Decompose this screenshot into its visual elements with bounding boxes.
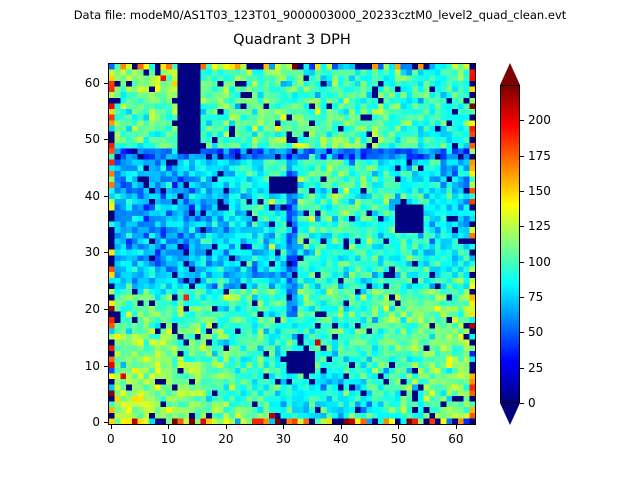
colorbar-tick-label: 150 bbox=[528, 184, 551, 198]
colorbar-tick-mark bbox=[520, 156, 524, 157]
colorbar-tick-mark bbox=[520, 120, 524, 121]
colorbar-tick-label: 175 bbox=[528, 149, 551, 163]
colorbar-tick-mark bbox=[520, 332, 524, 333]
y-tick-label: 0 bbox=[68, 415, 100, 429]
colorbar-tick-mark bbox=[520, 191, 524, 192]
colorbar-tick-label: 50 bbox=[528, 325, 543, 339]
x-tick-label: 10 bbox=[161, 432, 176, 446]
colorbar-tick-mark bbox=[520, 226, 524, 227]
colorbar-tick-label: 25 bbox=[528, 361, 543, 375]
y-tick-label: 20 bbox=[68, 302, 100, 316]
x-tick-mark bbox=[341, 425, 342, 429]
figure-canvas: Data file: modeM0/AS1T03_123T01_90000030… bbox=[0, 0, 640, 480]
x-tick-mark bbox=[111, 425, 112, 429]
colorbar[interactable]: 0255075100125150175200 bbox=[500, 63, 520, 425]
colorbar-tick-label: 200 bbox=[528, 113, 551, 127]
x-tick-label: 0 bbox=[107, 432, 115, 446]
heatmap-axes[interactable] bbox=[108, 63, 476, 425]
colorbar-tick-mark bbox=[520, 368, 524, 369]
colorbar-image bbox=[501, 86, 519, 402]
heatmap-image[interactable] bbox=[109, 64, 475, 424]
x-tick-mark bbox=[398, 425, 399, 429]
x-tick-label: 50 bbox=[391, 432, 406, 446]
y-tick-mark bbox=[104, 139, 108, 140]
plot-title: Quadrant 3 DPH bbox=[108, 31, 476, 49]
y-tick-mark bbox=[104, 366, 108, 367]
x-tick-mark bbox=[168, 425, 169, 429]
y-tick-mark bbox=[104, 252, 108, 253]
x-tick-label: 40 bbox=[333, 432, 348, 446]
x-tick-label: 30 bbox=[276, 432, 291, 446]
colorbar-tick-label: 100 bbox=[528, 255, 551, 269]
y-tick-label: 40 bbox=[68, 189, 100, 203]
x-tick-mark bbox=[226, 425, 227, 429]
y-tick-label: 10 bbox=[68, 359, 100, 373]
colorbar-tick-label: 75 bbox=[528, 290, 543, 304]
y-tick-mark bbox=[104, 422, 108, 423]
x-tick-mark bbox=[283, 425, 284, 429]
colorbar-under-arrow-icon bbox=[500, 403, 520, 425]
colorbar-tick-mark bbox=[520, 297, 524, 298]
colorbar-tick-mark bbox=[520, 262, 524, 263]
colorbar-tick-label: 0 bbox=[528, 396, 536, 410]
colorbar-tick-label: 125 bbox=[528, 219, 551, 233]
colorbar-gradient[interactable] bbox=[500, 85, 520, 403]
colorbar-over-arrow-icon bbox=[500, 63, 520, 85]
y-tick-label: 30 bbox=[68, 245, 100, 259]
colorbar-tick-mark bbox=[520, 403, 524, 404]
x-tick-label: 60 bbox=[448, 432, 463, 446]
x-tick-mark bbox=[456, 425, 457, 429]
y-tick-label: 60 bbox=[68, 76, 100, 90]
data-file-label: Data file: modeM0/AS1T03_123T01_90000030… bbox=[0, 8, 640, 22]
y-tick-mark bbox=[104, 83, 108, 84]
x-tick-label: 20 bbox=[218, 432, 233, 446]
y-tick-mark bbox=[104, 309, 108, 310]
y-tick-label: 50 bbox=[68, 132, 100, 146]
y-tick-mark bbox=[104, 196, 108, 197]
